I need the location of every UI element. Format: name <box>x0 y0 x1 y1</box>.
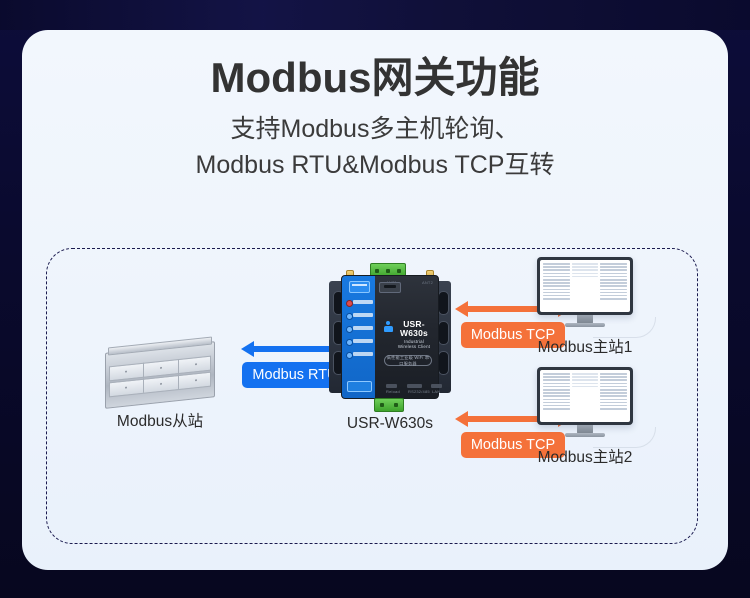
gateway-model-name: USR-W630s <box>396 320 432 337</box>
monitor-screen <box>537 367 633 425</box>
node-modbus-master-1: Modbus主站1 <box>505 257 665 357</box>
gateway-label-ant2: ANT2 <box>422 280 433 285</box>
subtitle-line-2: Modbus RTU&Modbus TCP互转 <box>22 148 728 184</box>
gateway-model-subtitle: Industrial Wireless Client <box>396 339 432 349</box>
node-label-modbus-slave: Modbus从站 <box>85 409 235 431</box>
terminal-block-bottom-icon <box>374 398 404 412</box>
page-subtitle: 支持Modbus多主机轮询、 Modbus RTU&Modbus TCP互转 <box>22 112 728 183</box>
monitor-base <box>565 433 605 437</box>
node-label-modbus-master-1: Modbus主站1 <box>505 335 665 357</box>
plc-device-icon <box>105 341 215 409</box>
gateway-bottom-chip-icon <box>347 381 372 392</box>
page-title: Modbus网关功能 <box>22 54 728 102</box>
monitor-icon <box>537 367 633 439</box>
subtitle-line-1: 支持Modbus多主机轮询、 <box>22 112 728 148</box>
monitor-icon <box>537 257 633 329</box>
usb-port-icon <box>379 282 401 293</box>
gateway-port-label-reload: Reload <box>386 389 400 394</box>
gateway-device-icon: ANT1 ANT2 USR-W630s Industrial Wireless … <box>329 259 451 409</box>
gateway-port-label-lan: LAN <box>432 389 440 394</box>
topology-diagram: Modbus从站 Modbus RTU <box>46 248 698 544</box>
monitor-base <box>565 323 605 327</box>
node-modbus-master-2: Modbus主站2 <box>505 367 665 467</box>
cable-icon <box>593 317 656 338</box>
header: Modbus网关功能 支持Modbus多主机轮询、 Modbus RTU&Mod… <box>22 54 728 183</box>
gateway-feature-box: 高性能工业级 WiFi 串口服务器 <box>384 355 432 366</box>
gateway-blue-panel <box>342 276 375 398</box>
node-modbus-slave: Modbus从站 <box>85 347 235 431</box>
monitor-screen <box>537 257 633 315</box>
cable-icon <box>593 427 656 448</box>
gateway-branding: USR-W630s Industrial Wireless Client 高性能… <box>384 320 432 366</box>
node-label-modbus-master-2: Modbus主站2 <box>505 445 665 467</box>
gateway-body: ANT1 ANT2 USR-W630s Industrial Wireless … <box>341 275 439 399</box>
gateway-top-chip-icon <box>349 281 370 293</box>
usr-logo-icon <box>384 321 393 332</box>
content-card: Modbus网关功能 支持Modbus多主机轮询、 Modbus RTU&Mod… <box>22 30 728 570</box>
gateway-port-label-serial: RS232/485 <box>408 389 430 394</box>
